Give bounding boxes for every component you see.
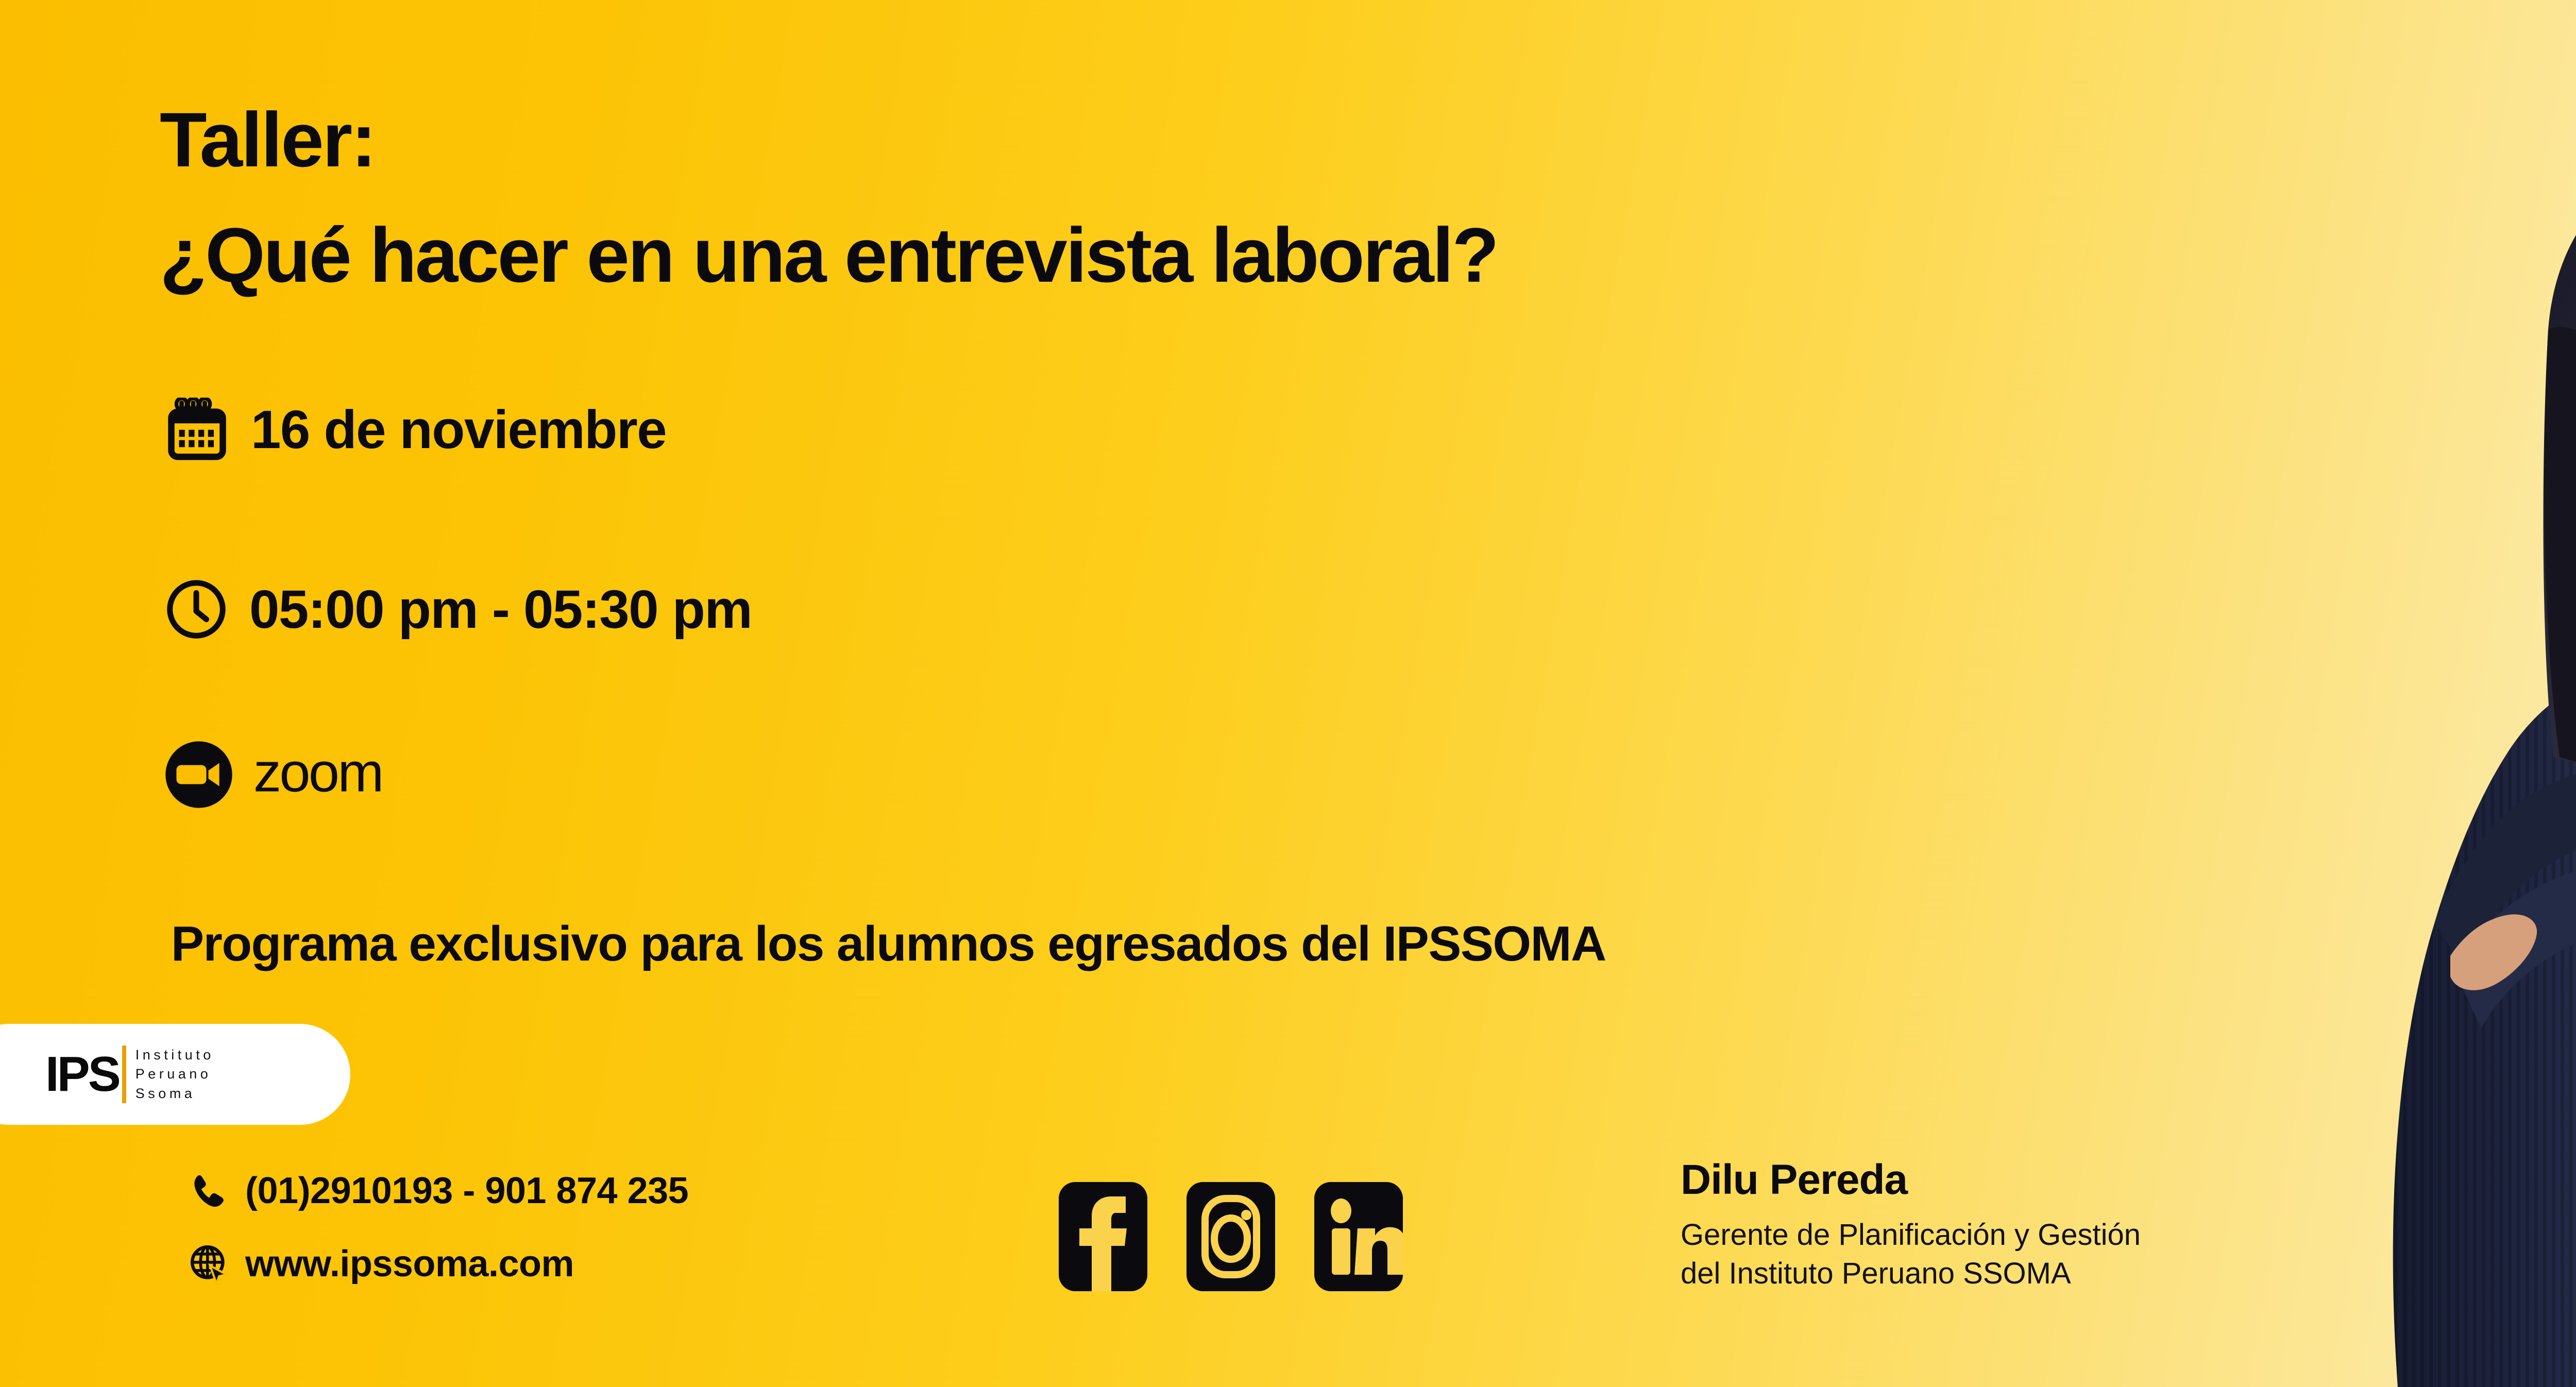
clock-icon: [165, 578, 228, 641]
contact-website-row[interactable]: www.ipssoma.com: [189, 1243, 688, 1285]
contact-website-text: www.ipssoma.com: [245, 1245, 574, 1282]
event-date-text: 16 de noviembre: [251, 403, 666, 457]
arm-upper: [2435, 761, 2576, 968]
speaker-role-line-2: del Instituto Peruano SSOMA: [1681, 1254, 2141, 1293]
dress-shape: [2393, 650, 2576, 1387]
globe-cursor-icon: [189, 1243, 230, 1285]
arm-lower: [2453, 857, 2576, 1028]
page-title: ¿Qué hacer en una entrevista laboral?: [160, 216, 1497, 294]
hair-back: [2544, 153, 2576, 777]
ips-logo-mark: IPS: [45, 1050, 119, 1099]
contact-block: (01)2910193 - 901 874 235 www.ipssoma.co…: [189, 1170, 688, 1285]
hand-left: [2450, 914, 2537, 990]
facebook-icon[interactable]: [1059, 1182, 1147, 1291]
phone-icon: [189, 1170, 230, 1211]
calendar-icon: [165, 398, 229, 462]
event-time-text: 05:00 pm - 05:30 pm: [249, 583, 752, 637]
ips-logo-divider: [122, 1046, 126, 1103]
ips-logo-badge: IPS Instituto Peruano Ssoma: [0, 1024, 350, 1125]
hair-strand-left: [2544, 327, 2576, 770]
event-platform-row: zoom: [165, 741, 448, 809]
dress-rib-texture: [2393, 650, 2576, 1387]
zoom-wordmark: zoom: [253, 747, 448, 802]
event-date-row: 16 de noviembre: [165, 398, 666, 462]
tagline-text: Programa exclusivo para los alumnos egre…: [171, 919, 1606, 969]
ips-logo-wordmark: Instituto Peruano Ssoma: [135, 1047, 214, 1102]
promo-banner: Taller: ¿Qué hacer en una entrevista lab…: [0, 0, 2576, 1387]
ips-logo-line-3: Ssoma: [135, 1086, 214, 1102]
instagram-icon[interactable]: [1187, 1182, 1275, 1291]
social-links: [1059, 1182, 1403, 1291]
ips-logo-line-2: Peruano: [135, 1066, 214, 1082]
speaker-name: Dilu Pereda: [1681, 1159, 2141, 1201]
svg-text:zoom: zoom: [253, 747, 382, 802]
ips-logo-line-1: Instituto: [135, 1047, 214, 1063]
contact-phone-text: (01)2910193 - 901 874 235: [245, 1172, 688, 1209]
zoom-camera-icon: [165, 741, 233, 809]
speaker-role-line-1: Gerente de Planificación y Gestión: [1681, 1215, 2141, 1254]
kicker-label: Taller:: [160, 101, 375, 178]
speaker-block: Dilu Pereda Gerente de Planificación y G…: [1681, 1159, 2141, 1293]
contact-phone-row[interactable]: (01)2910193 - 901 874 235: [189, 1170, 688, 1211]
event-time-row: 05:00 pm - 05:30 pm: [165, 578, 752, 641]
linkedin-icon[interactable]: [1314, 1182, 1403, 1291]
